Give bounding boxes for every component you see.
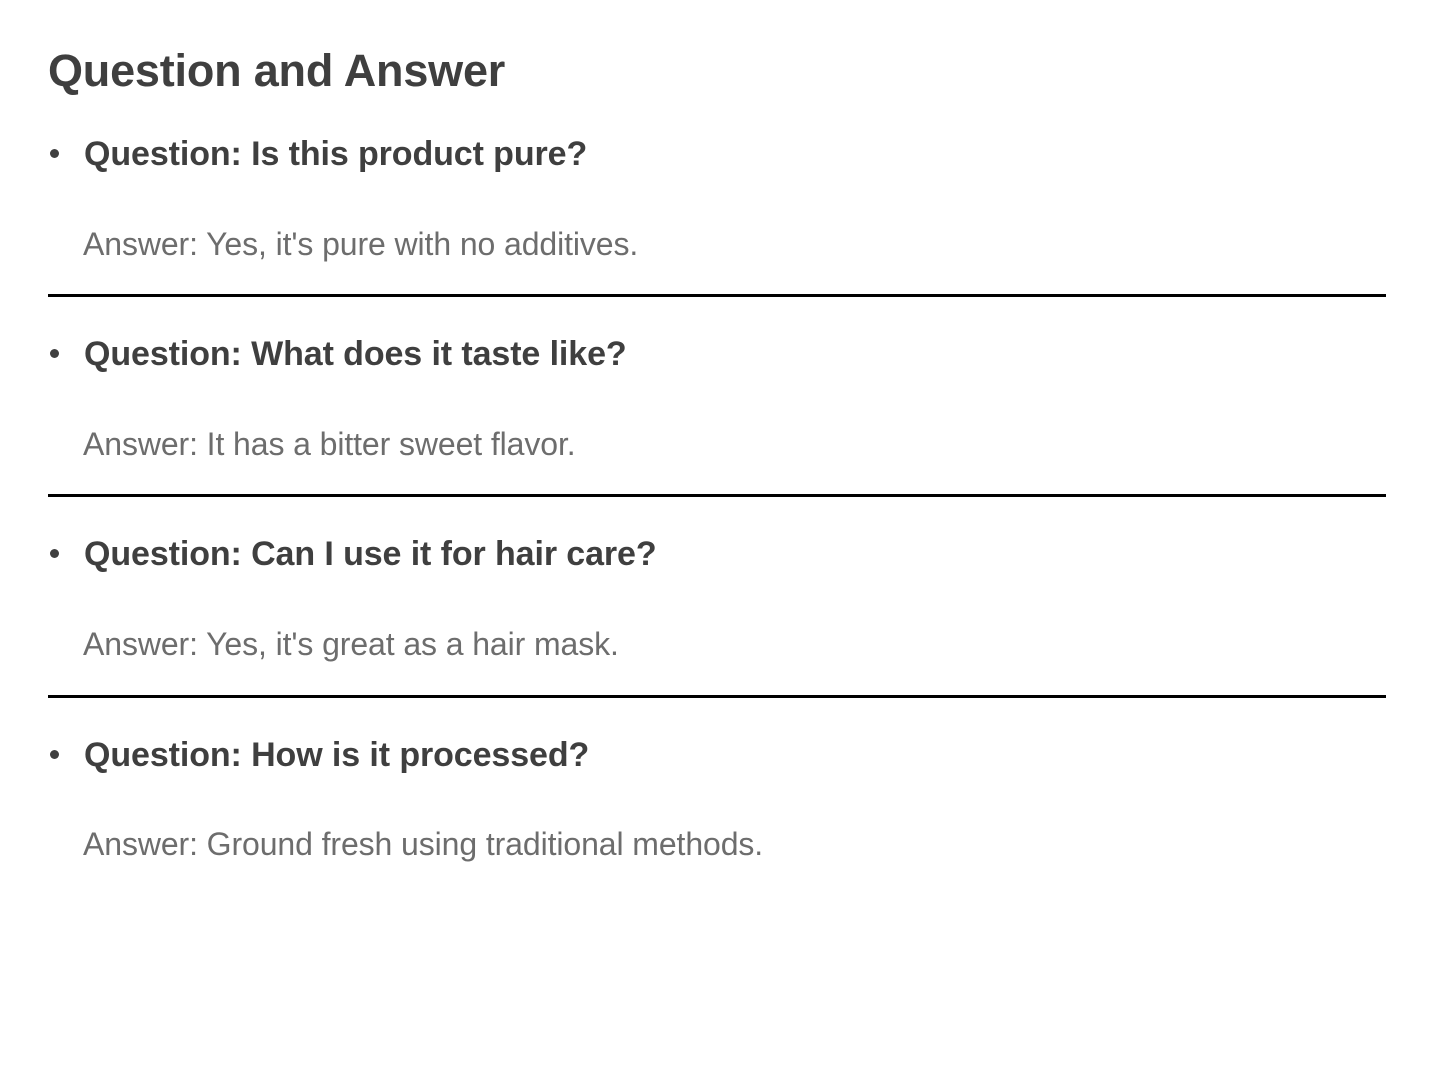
qa-answer: Answer: Ground fresh using traditional m… (48, 775, 1386, 863)
qa-answer: Answer: It has a bitter sweet flavor. (48, 375, 1386, 463)
list-item: Question: How is it processed? Answer: G… (48, 698, 1386, 864)
qa-question: Question: How is it processed? (48, 735, 1386, 776)
qa-question-text: Question: Is this product pure? (84, 135, 587, 173)
list-item: Question: Can I use it for hair care? An… (48, 497, 1386, 697)
bullet-icon (50, 149, 59, 158)
bullet-icon (50, 549, 59, 558)
qa-question: Question: What does it taste like? (48, 334, 1386, 375)
qa-question-text: Question: How is it processed? (84, 736, 589, 774)
qa-answer: Answer: Yes, it's pure with no additives… (48, 175, 1386, 263)
list-item: Question: What does it taste like? Answe… (48, 297, 1386, 497)
qa-list: Question: Is this product pure? Answer: … (48, 97, 1386, 864)
bullet-icon (50, 750, 59, 759)
qa-question-text: Question: Can I use it for hair care? (84, 535, 657, 573)
qa-question: Question: Can I use it for hair care? (48, 534, 1386, 575)
page-title: Question and Answer (48, 0, 1386, 97)
qa-question: Question: Is this product pure? (48, 134, 1386, 175)
qa-answer: Answer: Yes, it's great as a hair mask. (48, 575, 1386, 663)
list-item: Question: Is this product pure? Answer: … (48, 97, 1386, 297)
question-and-answer-page: Question and Answer Question: Is this pr… (0, 0, 1432, 1072)
qa-question-text: Question: What does it taste like? (84, 335, 627, 373)
bullet-icon (50, 349, 59, 358)
